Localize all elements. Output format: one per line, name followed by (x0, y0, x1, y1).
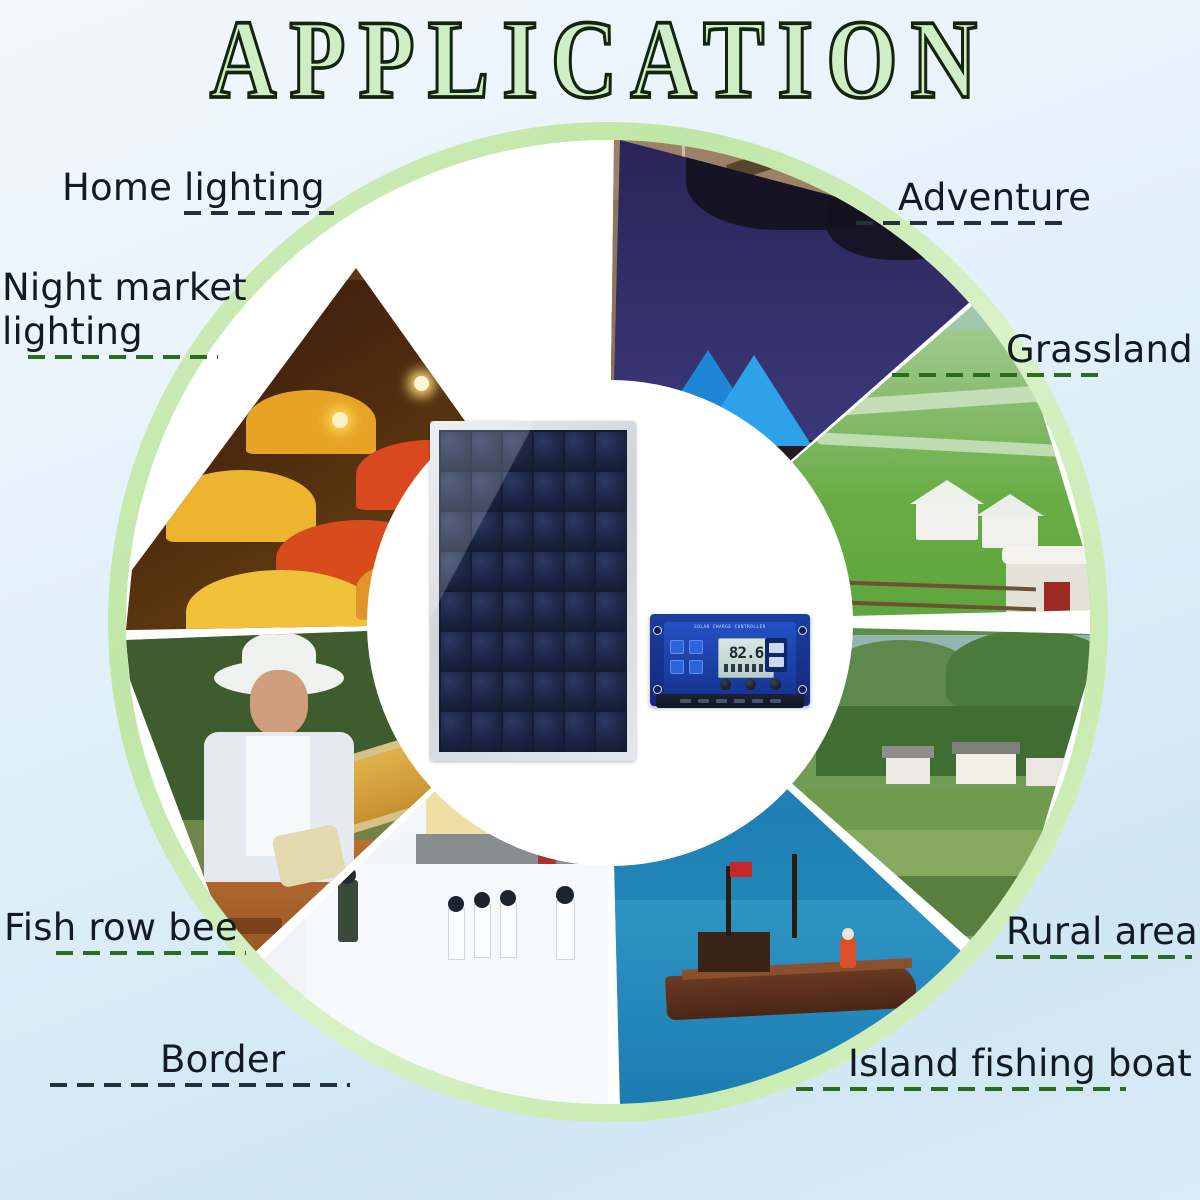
charge-controller[interactable]: SOLAR CHARGE CONTROLLER 82.6 (650, 614, 810, 706)
solar-cell (596, 632, 626, 671)
label-underline (796, 1087, 1126, 1091)
solar-cell (441, 512, 471, 551)
terminal-slot (716, 699, 727, 703)
label-underline (28, 355, 218, 359)
label-underline (50, 1083, 350, 1087)
label-home-lighting-text: Home lighting (62, 168, 334, 207)
controller-button[interactable] (745, 679, 756, 690)
solar-cell (565, 712, 595, 751)
label-island-fishing-boat: Island fishing boat (848, 1044, 1192, 1091)
solar-cell (441, 712, 471, 751)
label-night-market-text-line2: lighting (2, 312, 247, 351)
solar-cell (596, 712, 626, 751)
solar-cell (503, 552, 533, 591)
page-title: APPLICATION (210, 0, 990, 124)
solar-cell (503, 712, 533, 751)
terminal-slot (680, 699, 691, 703)
solar-cell (441, 432, 471, 471)
label-rural-area-text: Rural area (1006, 912, 1198, 951)
solar-cell (472, 432, 502, 471)
solar-cell (534, 712, 564, 751)
solar-cell (565, 512, 595, 551)
mount-hole (653, 685, 662, 694)
solar-cell (596, 552, 626, 591)
label-fish-row-bee: Fish row bee (4, 908, 246, 955)
solar-cell (565, 552, 595, 591)
solar-cell (503, 472, 533, 511)
label-grassland: Grassland (1006, 330, 1193, 377)
solar-cell (534, 552, 564, 591)
load-icon (689, 660, 703, 674)
label-island-fishing-boat-text: Island fishing boat (848, 1044, 1192, 1083)
solar-cell (472, 472, 502, 511)
solar-cell (472, 632, 502, 671)
solar-cell (534, 592, 564, 631)
label-night-market-lighting: Night market lighting (2, 268, 247, 359)
solar-cell (472, 712, 502, 751)
terminal-slot (752, 699, 763, 703)
solar-cell (503, 512, 533, 551)
controller-button[interactable] (720, 679, 731, 690)
solar-cell (472, 512, 502, 551)
label-home-lighting: Home lighting (62, 168, 334, 215)
solar-cell (472, 552, 502, 591)
terminal-slot (734, 699, 745, 703)
solar-cell (534, 432, 564, 471)
product-spotlight: SOLAR CHARGE CONTROLLER 82.6 (370, 383, 850, 863)
page-header: APPLICATION (0, 4, 1200, 114)
label-border: Border (160, 1040, 350, 1087)
usb-port-icon (769, 657, 784, 667)
solar-cell (441, 632, 471, 671)
usb-ports[interactable] (765, 638, 787, 672)
solar-cell (565, 432, 595, 471)
controller-brand-text: SOLAR CHARGE CONTROLLER (664, 624, 796, 629)
lcd-value: 82.6 (729, 645, 764, 661)
usb-port-icon (769, 643, 784, 653)
solar-cell (503, 432, 533, 471)
solar-cell (565, 472, 595, 511)
label-adventure-text: Adventure (898, 178, 1091, 217)
solar-cell (565, 672, 595, 711)
lcd-segments (724, 664, 768, 672)
solar-panel-cells (439, 430, 627, 752)
label-underline (856, 221, 1062, 225)
label-border-text: Border (160, 1040, 350, 1079)
solar-cell (441, 592, 471, 631)
controller-buttons[interactable] (720, 679, 781, 690)
label-underline (996, 955, 1192, 959)
solar-cell (596, 512, 626, 551)
label-adventure: Adventure (898, 178, 1091, 225)
label-night-market-text: Night market (2, 268, 247, 307)
solar-cell (472, 672, 502, 711)
solar-cell (472, 592, 502, 631)
label-rural-area: Rural area (1006, 912, 1198, 959)
solar-cell (596, 672, 626, 711)
mount-hole (653, 626, 662, 635)
label-grassland-text: Grassland (1006, 330, 1193, 369)
sun-icon (689, 640, 703, 654)
solar-cell (503, 672, 533, 711)
solar-cell (565, 592, 595, 631)
controller-terminals (656, 694, 804, 708)
mount-hole (798, 685, 807, 694)
solar-cell (534, 472, 564, 511)
solar-cell (596, 592, 626, 631)
controller-face: SOLAR CHARGE CONTROLLER 82.6 (664, 622, 796, 698)
solar-cell (565, 632, 595, 671)
solar-panel[interactable] (430, 421, 636, 761)
label-underline (892, 373, 1106, 377)
label-underline (184, 211, 334, 215)
battery-icon (670, 640, 684, 654)
mount-hole (798, 626, 807, 635)
label-underline (56, 951, 246, 955)
solar-cell (596, 472, 626, 511)
solar-cell (596, 432, 626, 471)
terminal-slot (698, 699, 709, 703)
solar-cell (441, 672, 471, 711)
clock-icon (670, 660, 684, 674)
solar-cell (441, 472, 471, 511)
solar-cell (534, 512, 564, 551)
solar-cell (503, 592, 533, 631)
controller-button[interactable] (770, 679, 781, 690)
solar-cell (534, 672, 564, 711)
solar-cell (534, 632, 564, 671)
solar-cell (441, 552, 471, 591)
solar-cell (503, 632, 533, 671)
label-fish-row-bee-text: Fish row bee (4, 908, 246, 947)
terminal-slot (770, 699, 781, 703)
